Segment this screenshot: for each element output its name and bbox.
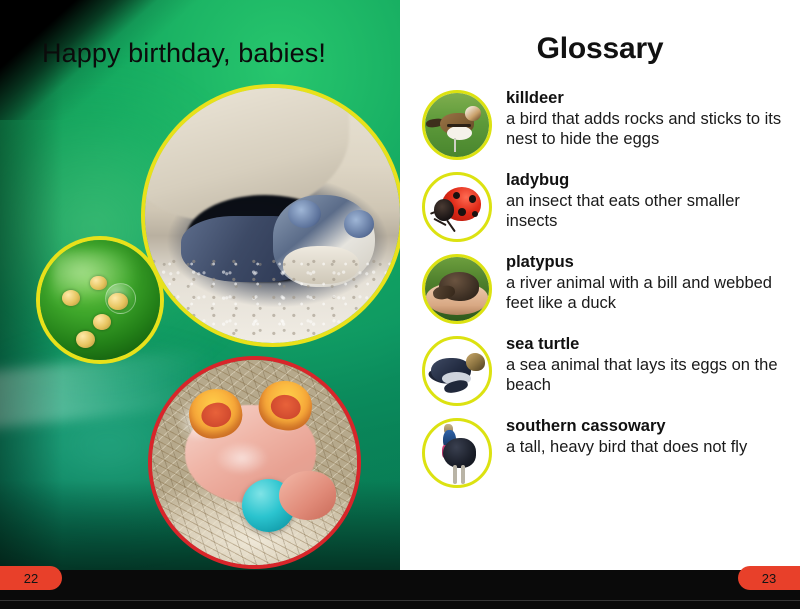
glossary-entry: southern cassowary a tall, heavy bird th… [418,414,790,492]
glossary-entry: platypus a river animal with a bill and … [418,250,790,328]
entry-text: sea turtle a sea animal that lays its eg… [506,332,790,396]
glossary-definition: a sea animal that lays its eggs on the b… [506,355,790,396]
glossary-term: ladybug [506,170,790,191]
page-headline: Happy birthday, babies! [42,36,342,71]
glossary-title: Glossary [400,32,800,66]
entry-text: killdeer a bird that adds rocks and stic… [506,86,790,150]
page-number-right: 23 [738,566,800,590]
frog-egg [93,314,111,330]
footer-hairline [0,600,800,601]
sand-grain-texture [145,256,400,343]
right-page: Glossary killdeer a b [400,0,800,570]
killdeer-thumb [418,86,496,164]
entry-text: platypus a river animal with a bill and … [506,250,790,314]
thumb-ring [422,336,492,406]
entry-text: southern cassowary a tall, heavy bird th… [506,414,790,457]
glossary-definition: a bird that adds rocks and sticks to its… [506,109,790,150]
platypus-thumb [418,250,496,328]
bird-nest-photo [152,360,357,565]
beak-interior [268,392,302,421]
page-footer-bar: 22 23 [0,570,800,609]
ladybug-thumb [418,168,496,246]
thumb-ring [422,254,492,324]
entry-text: ladybug an insect that eats other smalle… [506,168,790,232]
frog-egg [108,293,127,310]
page-number-left: 22 [0,566,62,590]
thumb-ring [422,90,492,160]
glossary-definition: an insect that eats other smaller insect… [506,191,790,232]
left-page: Happy birthday, babies! [0,0,400,570]
chick-third [279,471,336,520]
glossary-term: killdeer [506,88,790,109]
frog-egg [62,290,80,306]
frog-eggs-photo [40,240,160,360]
beak-interior [199,400,233,430]
sea-turtle-thumb [418,332,496,410]
glossary-term: southern cassowary [506,416,790,437]
glossary-entry: ladybug an insect that eats other smalle… [418,168,790,246]
thumb-ring [422,418,492,488]
glossary-definition: a river animal with a bill and webbed fe… [506,273,790,314]
sea-turtle-hatchling-photo [145,88,400,343]
glossary-term: sea turtle [506,334,790,355]
glossary-definition: a tall, heavy bird that does not fly [506,437,790,458]
frog-egg [76,331,95,348]
glossary-term: platypus [506,252,790,273]
book-spread: Happy birthday, babies! [0,0,800,609]
glossary-entry-list: killdeer a bird that adds rocks and stic… [418,86,790,496]
glossary-entry: sea turtle a sea animal that lays its eg… [418,332,790,410]
southern-cassowary-thumb [418,414,496,492]
glossary-entry: killdeer a bird that adds rocks and stic… [418,86,790,164]
thumb-ring [422,172,492,242]
turtle-eye-left [288,200,321,228]
